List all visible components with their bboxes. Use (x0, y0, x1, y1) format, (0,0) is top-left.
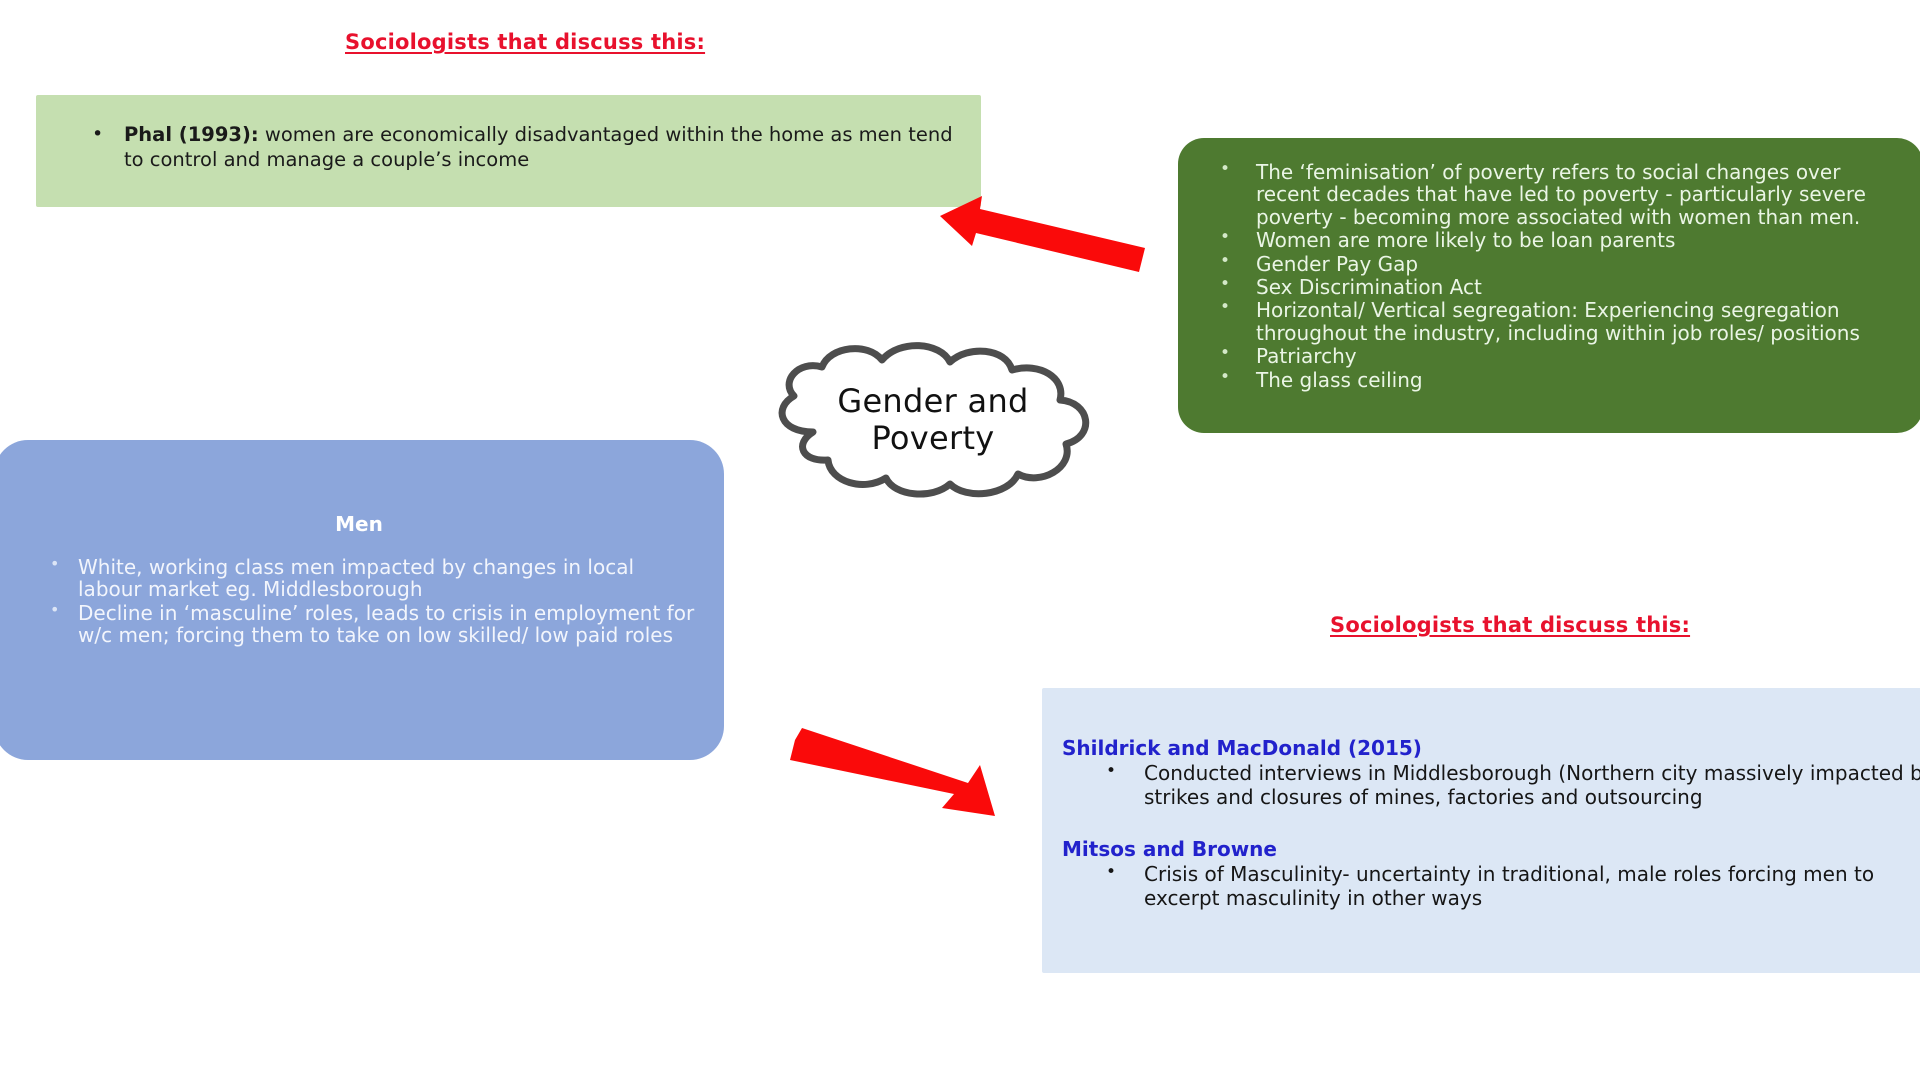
phal-green-box: Phal (1993): women are economically disa… (36, 95, 981, 207)
sociologists-content: Shildrick and MacDonald (2015) Conducted… (1042, 688, 1920, 910)
list-item: Conducted interviews in Middlesborough (… (1062, 762, 1920, 809)
list-item: Sex Discrimination Act (1208, 276, 1897, 298)
feminisation-bullet-list: The ‘feminisation’ of poverty refers to … (1178, 138, 1920, 391)
list-item: Crisis of Masculinity- uncertainty in tr… (1062, 863, 1920, 910)
mitsos-browne-heading: Mitsos and Browne (1062, 837, 1920, 861)
shildrick-macdonald-heading: Shildrick and MacDonald (2015) (1062, 736, 1920, 760)
list-item: Women are more likely to be loan parents (1208, 229, 1897, 251)
list-item: Decline in ‘masculine’ roles, leads to c… (16, 602, 700, 647)
feminisation-dark-green-box: The ‘feminisation’ of poverty refers to … (1178, 138, 1920, 433)
list-item: Gender Pay Gap (1208, 253, 1897, 275)
men-box-title: Men (0, 512, 724, 536)
men-bullet-list: White, working class men impacted by cha… (0, 536, 724, 647)
mitsos-browne-bullet-list: Crisis of Masculinity- uncertainty in tr… (1062, 863, 1920, 910)
list-item: Patriarchy (1208, 345, 1897, 367)
arrow-pointing-left-icon (940, 196, 1150, 276)
central-cloud: Gender and Poverty (718, 340, 1148, 500)
sociologists-heading-bottom: Sociologists that discuss this: (1330, 613, 1690, 637)
list-item: Phal (1993): women are economically disa… (76, 123, 959, 173)
arrow-pointing-right-icon (790, 728, 1010, 818)
sociologists-heading-top: Sociologists that discuss this: (345, 30, 705, 54)
cloud-shape-icon (718, 340, 1148, 500)
list-item: White, working class men impacted by cha… (16, 556, 700, 601)
list-item: Horizontal/ Vertical segregation: Experi… (1208, 299, 1897, 344)
phal-bullet-list: Phal (1993): women are economically disa… (36, 95, 981, 173)
phal-citation-label: Phal (1993): (124, 123, 259, 146)
shildrick-macdonald-bullet-list: Conducted interviews in Middlesborough (… (1062, 762, 1920, 809)
sociologists-light-blue-box: Shildrick and MacDonald (2015) Conducted… (1042, 688, 1920, 973)
list-item: The ‘feminisation’ of poverty refers to … (1208, 161, 1897, 228)
list-item: The glass ceiling (1208, 369, 1897, 391)
men-blue-box: Men White, working class men impacted by… (0, 440, 724, 760)
mindmap-canvas: Sociologists that discuss this: Phal (19… (0, 0, 1920, 1080)
